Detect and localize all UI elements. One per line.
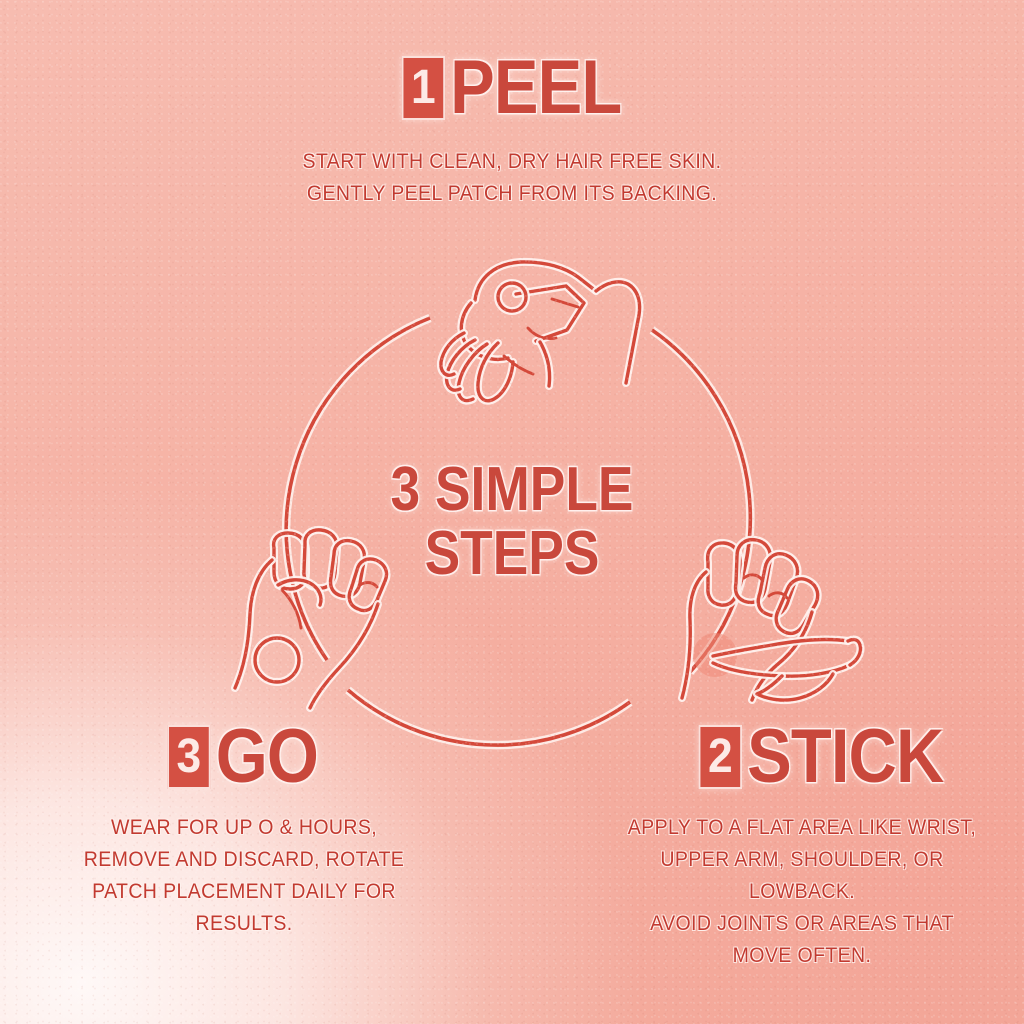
step-2-line-1: APPLY TO A FLAT AREA LIKE WRIST, [610, 812, 993, 844]
center-title-line-2: STEPS [331, 522, 692, 586]
step-1-heading: 1 PEEL [403, 56, 622, 120]
center-title: 3 SIMPLE STEPS [331, 458, 692, 586]
hand-pressing-patch-on-wrist-icon [682, 540, 861, 700]
step-1-title: PEEL [450, 57, 621, 119]
infographic-canvas: 1 PEEL START WITH CLEAN, DRY HAIR FREE S… [0, 0, 1024, 1024]
step-3-title: GO [216, 726, 318, 788]
step-3-line-1: WEAR FOR UP O & HOURS, [49, 812, 440, 844]
hand-peeling-patch-icon [441, 262, 640, 401]
step-2-description: APPLY TO A FLAT AREA LIKE WRIST, UPPER A… [610, 812, 993, 972]
patch-dot-icon [693, 633, 737, 677]
step-2-title: STICK [747, 726, 943, 788]
step-1-line-2: GENTLY PEEL PATCH FROM ITS BACKING. [214, 178, 809, 210]
step-2-badge: 2 [699, 725, 742, 789]
step-2-line-2: UPPER ARM, SHOULDER, OR LOWBACK. [610, 844, 993, 908]
step-3-line-3: PATCH PLACEMENT DAILY FOR RESULTS. [49, 876, 440, 940]
step-3-badge: 3 [167, 725, 210, 789]
step-2-line-4: MOVE OFTEN. [610, 940, 993, 972]
step-3-line-2: REMOVE AND DISCARD, ROTATE [49, 844, 440, 876]
step-3-description: WEAR FOR UP O & HOURS, REMOVE AND DISCAR… [49, 812, 440, 940]
step-1-description: START WITH CLEAN, DRY HAIR FREE SKIN. GE… [214, 146, 809, 210]
center-title-line-1: 3 SIMPLE [331, 458, 692, 522]
step-2-heading: 2 STICK [700, 725, 944, 789]
step-3-heading: 3 GO [168, 725, 318, 789]
step-1-badge: 1 [402, 56, 445, 120]
step-1-line-1: START WITH CLEAN, DRY HAIR FREE SKIN. [214, 146, 809, 178]
step-2-line-3: AVOID JOINTS OR AREAS THAT [610, 908, 993, 940]
